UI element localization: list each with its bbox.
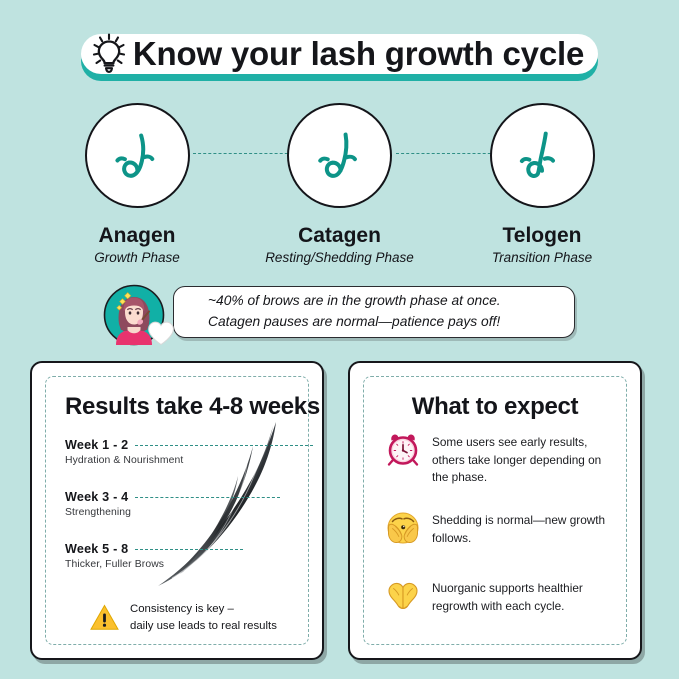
week-row-1-rule: [135, 445, 313, 446]
heart-icon: [147, 320, 175, 346]
week-row-1-label: Week 1 - 2: [65, 438, 128, 452]
peeking-face-icon: [386, 511, 420, 545]
expect-item-3-text: Nuorganic supports healthier regrowth wi…: [432, 579, 610, 615]
warning-triangle-icon: [90, 604, 119, 631]
phase-catagen-subtitle: Resting/Shedding Phase: [265, 250, 414, 266]
week-row-1-head: Week 1 - 2: [65, 438, 295, 452]
week-row-2-rule: [135, 497, 280, 498]
heart-hands-icon: [386, 579, 420, 613]
week-row-3: Week 5 - 8 Thicker, Fuller Brows: [65, 542, 295, 570]
phase-connector-1: [193, 153, 298, 154]
phase-anagen-subtitle: Growth Phase: [94, 250, 180, 266]
week-row-1: Week 1 - 2 Hydration & Nourishment: [65, 438, 295, 466]
phase-telogen-circle: [490, 103, 595, 208]
phase-catagen-name: Catagen: [298, 224, 381, 247]
hair-follicle-icon: [110, 128, 164, 184]
consistency-note-text: Consistency is key – daily use leads to …: [130, 601, 277, 634]
phase-telogen-subtitle: Transition Phase: [492, 250, 592, 266]
expect-item-1-text: Some users see early results, others tak…: [432, 433, 610, 487]
callout-line-2: Catagen pauses are normal—patience pays …: [208, 312, 574, 333]
phase-anagen-name: Anagen: [98, 224, 175, 247]
phase-catagen-circle: [287, 103, 392, 208]
results-panel: Results take 4-8 weeks: [30, 361, 324, 660]
lightbulb-icon: [91, 32, 127, 74]
phase-catagen[interactable]: Catagen Resting/Shedding Phase: [249, 103, 431, 266]
page-title: Know your lash growth cycle: [133, 37, 584, 70]
expect-panel-title: What to expect: [350, 395, 640, 419]
week-row-2-head: Week 3 - 4: [65, 490, 295, 504]
callout-bubble: ~40% of brows are in the growth phase at…: [173, 286, 575, 338]
week-row-2-label: Week 3 - 4: [65, 490, 128, 504]
expect-item-3: Nuorganic supports healthier regrowth wi…: [386, 579, 610, 615]
week-row-2: Week 3 - 4 Strengthening: [65, 490, 295, 518]
phase-telogen-name: Telogen: [503, 224, 582, 247]
phase-telogen[interactable]: Telogen Transition Phase: [451, 103, 633, 266]
phase-anagen-circle: [85, 103, 190, 208]
phase-connector-2: [396, 153, 501, 154]
hair-follicle-icon: [515, 128, 569, 184]
week-row-2-detail: Strengthening: [65, 507, 295, 518]
week-row-3-detail: Thicker, Fuller Brows: [65, 559, 295, 570]
expect-item-1: Some users see early results, others tak…: [386, 433, 610, 487]
consistency-note-line-1: Consistency is key –: [130, 601, 277, 618]
header-sticker: Know your lash growth cycle: [81, 30, 598, 76]
callout-line-1: ~40% of brows are in the growth phase at…: [208, 291, 574, 312]
phase-anagen[interactable]: Anagen Growth Phase: [46, 103, 228, 266]
week-row-3-rule: [135, 549, 243, 550]
hair-follicle-icon: [313, 128, 367, 184]
consistency-note: Consistency is key – daily use leads to …: [90, 601, 277, 634]
expect-item-2: Shedding is normal—new growth follows.: [386, 511, 610, 547]
expect-panel: What to expect: [348, 361, 642, 660]
results-panel-title: Results take 4-8 weeks: [65, 395, 320, 419]
week-row-3-label: Week 5 - 8: [65, 542, 128, 556]
week-row-3-head: Week 5 - 8: [65, 542, 295, 556]
alarm-clock-icon: [386, 433, 420, 467]
header-banner: Know your lash growth cycle: [0, 22, 679, 84]
week-row-1-detail: Hydration & Nourishment: [65, 455, 295, 466]
callout-banner: ~40% of brows are in the growth phase at…: [103, 284, 575, 340]
expect-item-2-text: Shedding is normal—new growth follows.: [432, 511, 610, 547]
phase-cycle-row: Anagen Growth Phase Catagen Resting/Shed…: [46, 103, 633, 263]
consistency-note-line-2: daily use leads to real results: [130, 618, 277, 635]
